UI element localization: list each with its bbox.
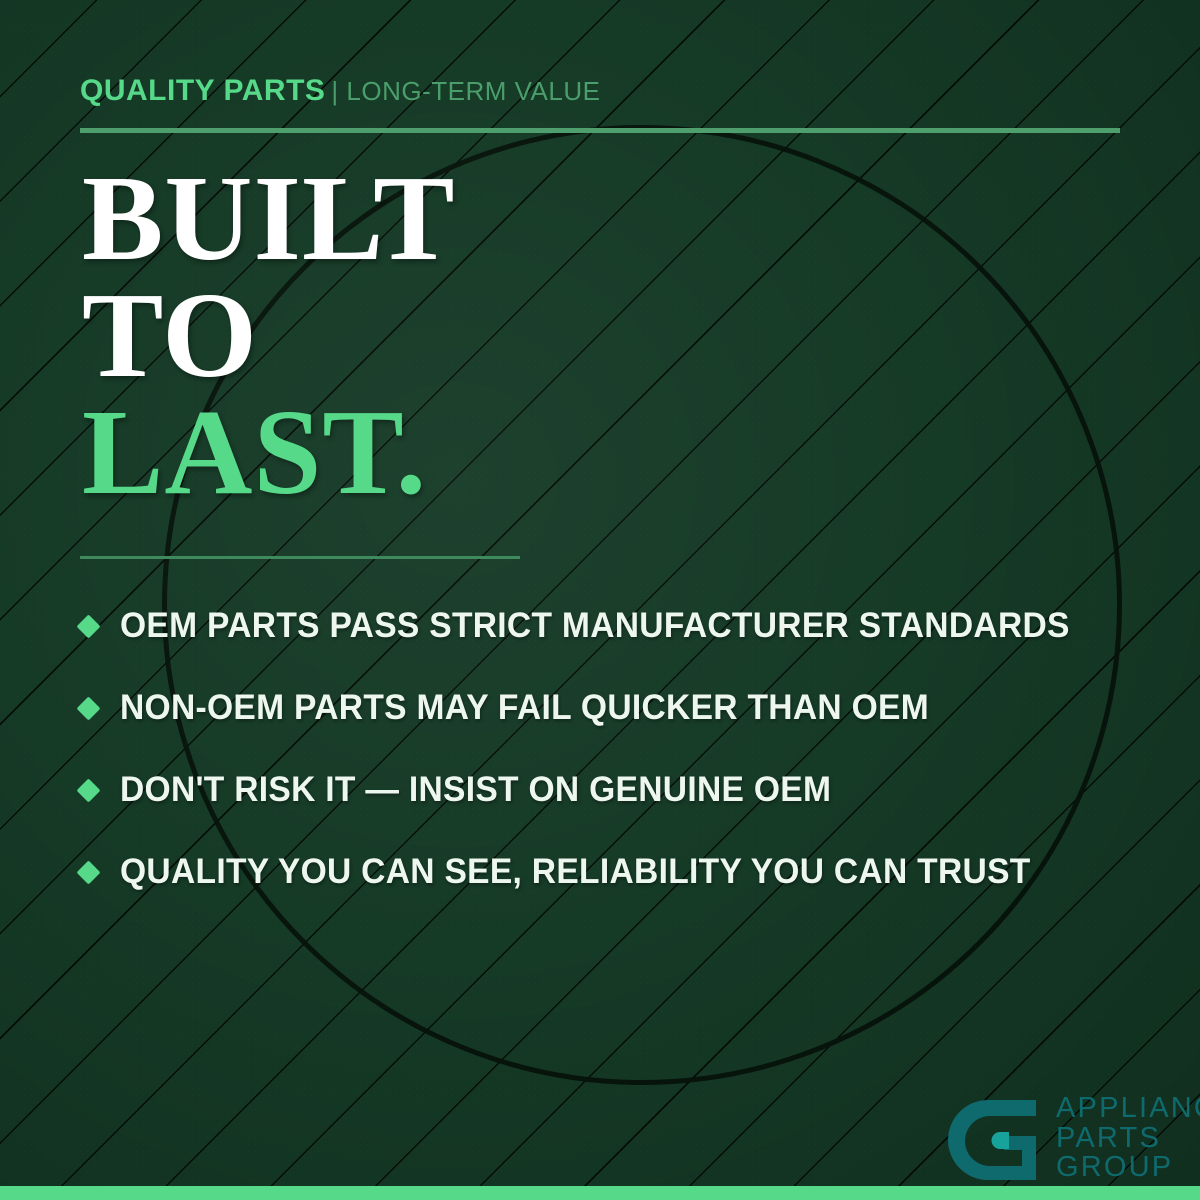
headline-line-1: BUILT <box>82 160 456 277</box>
eyebrow-sub-label: | LONG-TERM VALUE <box>331 76 600 106</box>
promo-poster: QUALITY PARTS| LONG-TERM VALUE BUILT TO … <box>0 0 1200 1200</box>
list-item: NON-OEM PARTS MAY FAIL QUICKER THAN OEM <box>80 667 1155 749</box>
g-monogram-icon <box>948 1092 1044 1193</box>
headline-line-3: LAST. <box>82 394 456 511</box>
diamond-bullet-icon <box>76 778 100 802</box>
headline-line-2: TO <box>82 277 456 394</box>
brand-logo-wordmark: APPLIANCE PARTS GROUP <box>1056 1092 1200 1183</box>
bottom-accent-bar <box>0 1186 1200 1200</box>
diamond-bullet-icon <box>76 696 100 720</box>
list-item: OEM PARTS PASS STRICT MANUFACTURER STAND… <box>80 585 1155 667</box>
brand-logo-line-2: PARTS <box>1056 1124 1200 1154</box>
diamond-bullet-icon <box>76 860 100 884</box>
list-item: DON'T RISK IT — INSIST ON GENUINE OEM <box>80 749 1155 831</box>
brand-logo: APPLIANCE PARTS GROUP <box>948 1092 1200 1193</box>
diamond-bullet-icon <box>76 614 100 638</box>
brand-logo-line-1: APPLIANCE <box>1056 1094 1200 1124</box>
list-item-label: NON-OEM PARTS MAY FAIL QUICKER THAN OEM <box>120 688 929 728</box>
headline-underline-rule <box>80 556 520 559</box>
headline-block: BUILT TO LAST. <box>82 160 456 511</box>
brand-logo-line-3: GROUP <box>1056 1153 1200 1183</box>
list-item-label: OEM PARTS PASS STRICT MANUFACTURER STAND… <box>120 606 1070 646</box>
header-divider-rule <box>80 128 1120 133</box>
eyebrow-main-label: QUALITY PARTS <box>80 74 325 107</box>
list-item: QUALITY YOU CAN SEE, RELIABILITY YOU CAN… <box>80 831 1155 913</box>
eyebrow-heading: QUALITY PARTS| LONG-TERM VALUE <box>80 74 600 108</box>
list-item-label: DON'T RISK IT — INSIST ON GENUINE OEM <box>120 770 831 810</box>
list-item-label: QUALITY YOU CAN SEE, RELIABILITY YOU CAN… <box>120 852 1031 892</box>
benefit-list: OEM PARTS PASS STRICT MANUFACTURER STAND… <box>80 585 1155 913</box>
